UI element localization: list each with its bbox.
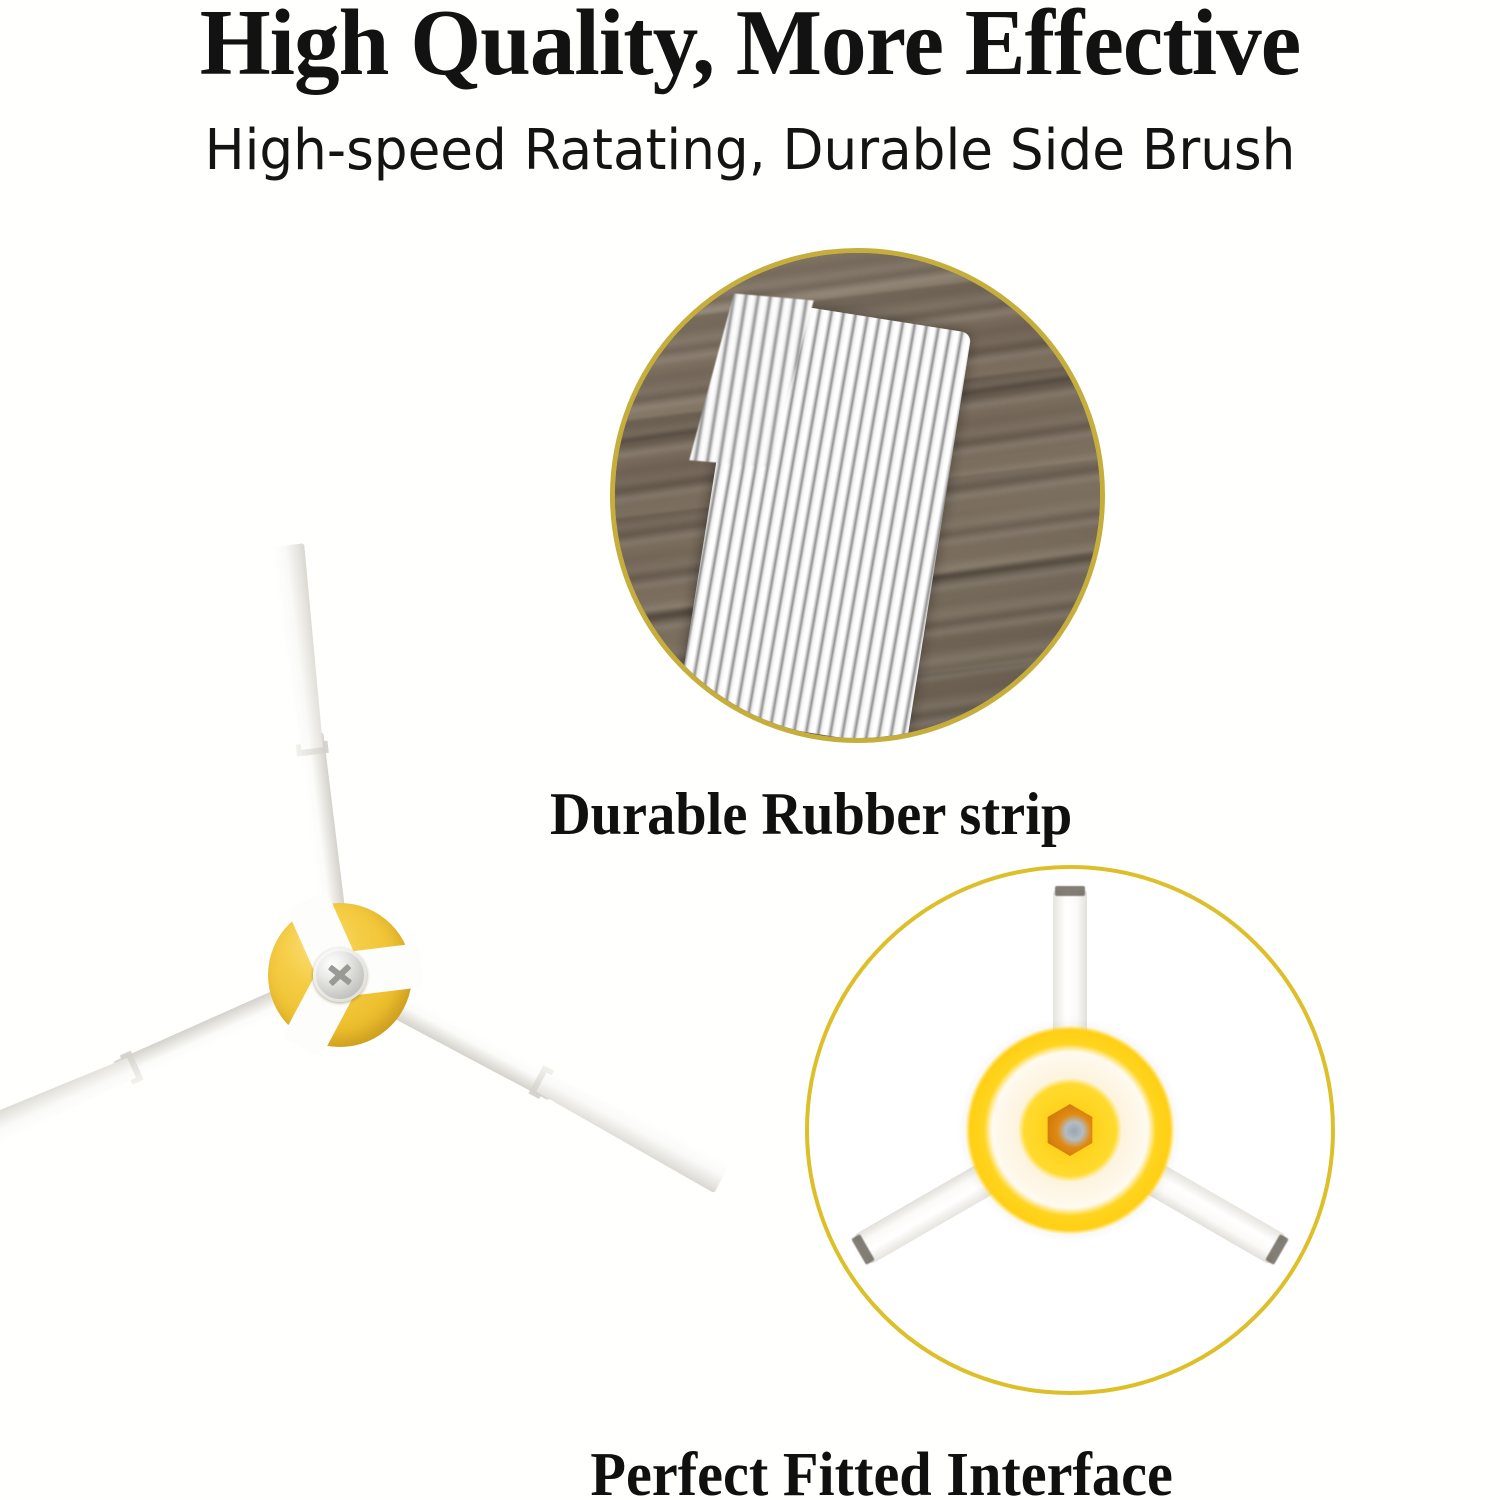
brush-arm-segment — [270, 543, 329, 751]
page-title: High Quality, More Effective — [23, 0, 1478, 93]
product-feature-image: High Quality, More Effective High-speed … — [0, 0, 1500, 1500]
interface-closeup-inset — [805, 865, 1335, 1395]
caption-perfect-fitted-interface: Perfect Fitted Interface — [45, 1440, 1455, 1500]
bristle-closeup-inset — [610, 248, 1105, 743]
brush-arm-segment — [0, 1052, 139, 1166]
brush-arm-segment — [533, 1067, 730, 1193]
screw-ring — [313, 948, 367, 1002]
caption-durable-rubber-strip: Durable Rubber strip — [45, 780, 1455, 849]
brush-underside — [809, 869, 1331, 1391]
page-subtitle: High-speed Ratating, Durable Side Brush — [38, 118, 1463, 183]
